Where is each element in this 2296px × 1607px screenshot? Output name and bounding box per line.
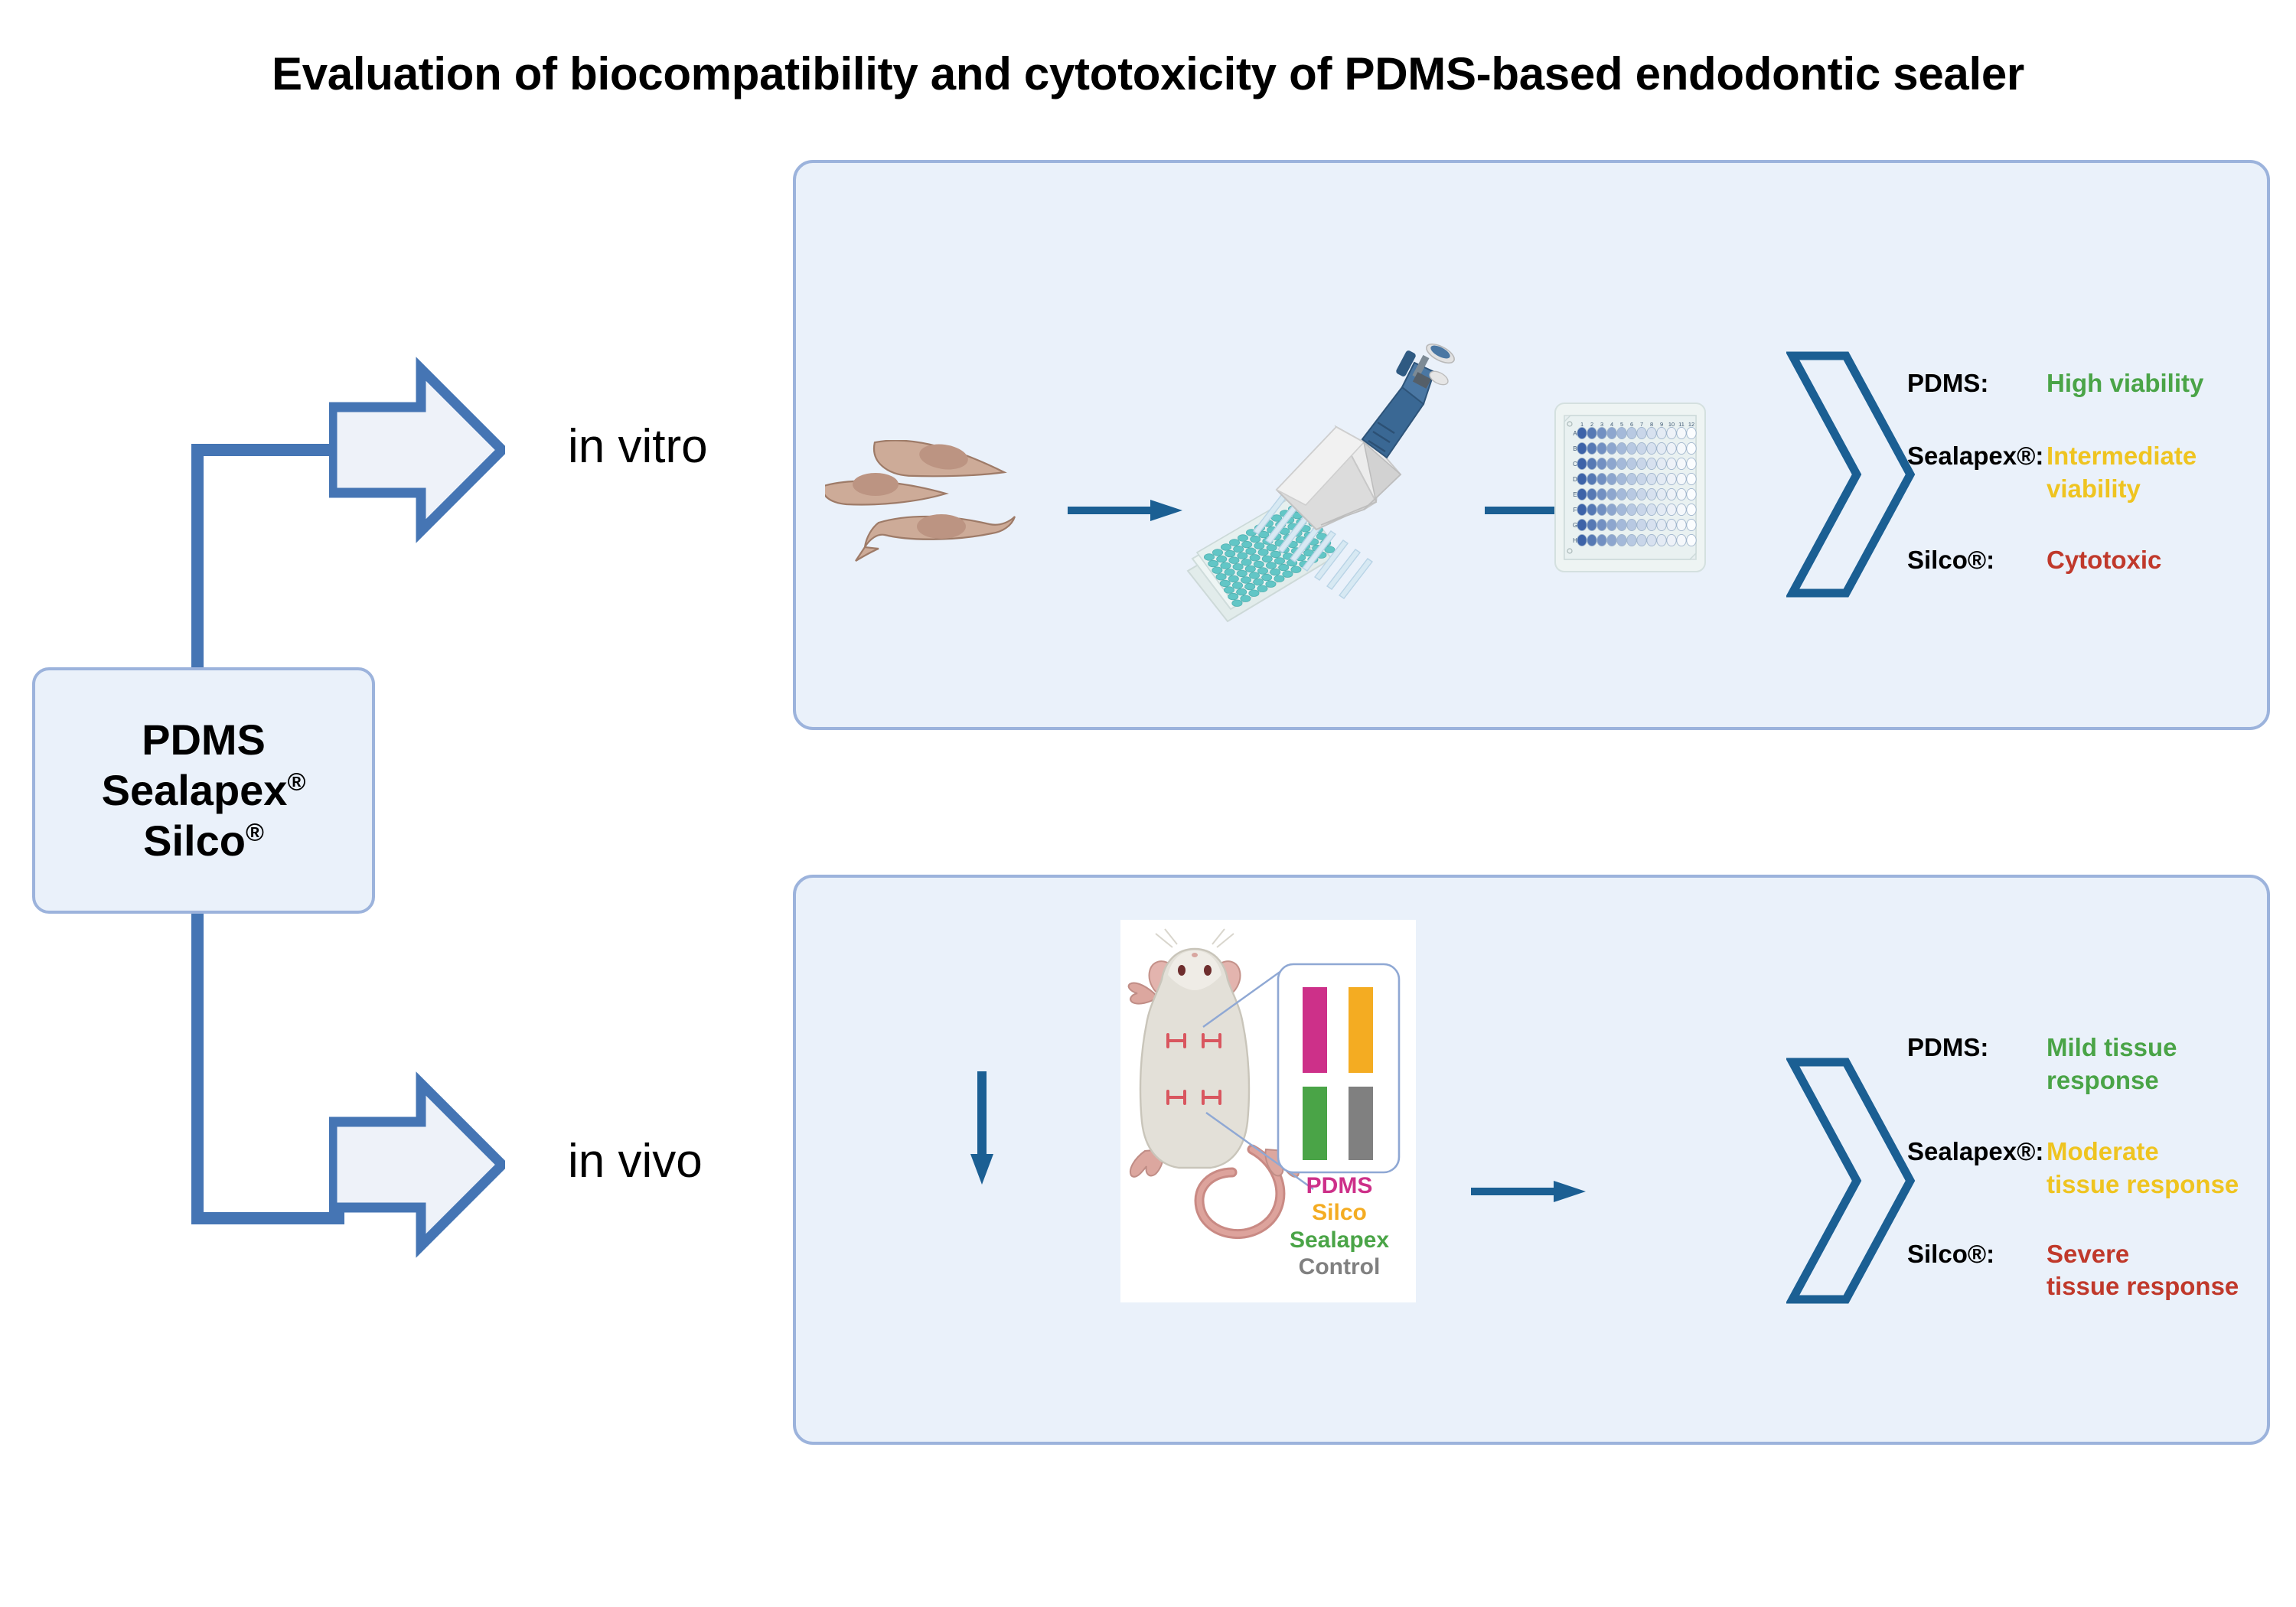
- connector-top-branch: [191, 444, 344, 456]
- multichannel-pipette-illustration: [1171, 329, 1492, 635]
- well: [1637, 458, 1646, 469]
- material-pdms: PDMS: [142, 715, 266, 765]
- svg-text:1: 1: [1580, 421, 1583, 428]
- materials-box: PDMS Sealapex® Silco®: [32, 667, 375, 914]
- well: [1607, 427, 1616, 438]
- chevron-results-in-vivo: [1786, 1054, 1916, 1307]
- legend-item-sealapex: Sealapex: [1270, 1227, 1408, 1253]
- svg-text:11: 11: [1678, 421, 1684, 428]
- svg-text:12: 12: [1688, 421, 1694, 428]
- result-value: Severe tissue response: [2047, 1238, 2239, 1304]
- well: [1617, 427, 1626, 438]
- svg-text:C: C: [1573, 461, 1577, 468]
- results-list-in-vitro: PDMS: High viability Sealapex®: Intermed…: [1907, 367, 2203, 608]
- well: [1657, 534, 1666, 546]
- well: [1637, 473, 1646, 484]
- svg-text:2: 2: [1590, 421, 1593, 428]
- well: [1607, 473, 1616, 484]
- well: [1587, 442, 1596, 454]
- registered-mark-icon: ®: [246, 818, 264, 846]
- well: [1657, 442, 1666, 454]
- legend-item-pdms: PDMS: [1270, 1172, 1408, 1199]
- svg-text:B: B: [1573, 445, 1577, 452]
- page-title: Evaluation of biocompatibility and cytot…: [0, 47, 2296, 100]
- connector-bottom-branch: [191, 1212, 344, 1224]
- well: [1627, 488, 1636, 500]
- well: [1597, 458, 1606, 469]
- well: [1667, 442, 1676, 454]
- well: [1647, 504, 1656, 515]
- svg-text:8: 8: [1650, 421, 1653, 428]
- well: [1647, 442, 1656, 454]
- well: [1607, 488, 1616, 500]
- implant-legend: PDMS Silco Sealapex Control: [1270, 1172, 1408, 1281]
- well: [1587, 458, 1596, 469]
- well: [1617, 458, 1626, 469]
- legend-item-control: Control: [1270, 1253, 1408, 1280]
- well: [1617, 442, 1626, 454]
- well: [1627, 458, 1636, 469]
- well: [1687, 442, 1696, 454]
- result-material: Silco®:: [1907, 544, 2047, 577]
- svg-text:9: 9: [1660, 421, 1663, 428]
- svg-text:G: G: [1573, 522, 1577, 529]
- legend-item-silco: Silco: [1270, 1199, 1408, 1226]
- result-material: Sealapex®:: [1907, 440, 2047, 506]
- well: [1587, 504, 1596, 515]
- well: [1657, 427, 1666, 438]
- result-row: PDMS: Mild tissue response: [1907, 1032, 2239, 1097]
- result-row: Silco®: Cytotoxic: [1907, 544, 2203, 577]
- flow-arrow-right: [1068, 497, 1184, 523]
- well: [1647, 473, 1656, 484]
- well: [1667, 427, 1676, 438]
- well: [1587, 473, 1596, 484]
- svg-text:D: D: [1573, 476, 1577, 483]
- well: [1677, 442, 1686, 454]
- well: [1627, 473, 1636, 484]
- svg-text:H: H: [1573, 537, 1577, 544]
- svg-text:5: 5: [1620, 421, 1623, 428]
- svg-text:7: 7: [1640, 421, 1643, 428]
- result-value: High viability: [2047, 367, 2203, 400]
- well: [1677, 488, 1686, 500]
- svg-text:E: E: [1573, 491, 1577, 498]
- chevron-results-in-vitro: [1786, 348, 1916, 601]
- fibroblast-cells-illustration: [825, 440, 1078, 616]
- well: [1597, 504, 1606, 515]
- well: [1667, 488, 1676, 500]
- well: [1627, 534, 1636, 546]
- branch-arrow-in-vivo: [329, 1071, 505, 1258]
- well: [1617, 519, 1626, 530]
- well: [1677, 534, 1686, 546]
- well: [1637, 519, 1646, 530]
- branch-label-in-vitro: in vitro: [568, 419, 708, 474]
- svg-text:4: 4: [1610, 421, 1613, 428]
- well: [1677, 473, 1686, 484]
- well: [1577, 473, 1587, 484]
- well: [1637, 534, 1646, 546]
- well: [1597, 442, 1606, 454]
- well: [1647, 458, 1656, 469]
- well: [1637, 504, 1646, 515]
- well: [1657, 488, 1666, 500]
- well: [1647, 427, 1656, 438]
- well: [1577, 427, 1587, 438]
- material-silco: Silco®: [143, 816, 264, 866]
- result-material: PDMS:: [1907, 1032, 2047, 1097]
- well: [1637, 427, 1646, 438]
- well: [1637, 488, 1646, 500]
- well: [1597, 519, 1606, 530]
- well: [1577, 442, 1587, 454]
- well: [1617, 534, 1626, 546]
- well: [1607, 504, 1616, 515]
- svg-text:10: 10: [1668, 421, 1675, 428]
- well: [1687, 519, 1696, 530]
- well: [1577, 519, 1587, 530]
- well: [1647, 519, 1656, 530]
- result-row: PDMS: High viability: [1907, 367, 2203, 400]
- diagram-canvas: Evaluation of biocompatibility and cytot…: [0, 0, 2296, 1607]
- well: [1657, 504, 1666, 515]
- result-material: PDMS:: [1907, 367, 2047, 400]
- well: [1607, 458, 1616, 469]
- rat-implant-illustration-card: PDMS Silco Sealapex Control: [1120, 920, 1416, 1302]
- result-row: Sealapex®: Moderate tissue response: [1907, 1136, 2239, 1201]
- well: [1577, 504, 1587, 515]
- 96-well-plate-illustration: 1234 5678 9101112 ABCD EFGH: [1554, 400, 1707, 575]
- result-value: Intermediate viability: [2047, 440, 2197, 506]
- well: [1607, 442, 1616, 454]
- well: [1687, 427, 1696, 438]
- well: [1677, 458, 1686, 469]
- well: [1577, 458, 1587, 469]
- well: [1617, 488, 1626, 500]
- well: [1607, 534, 1616, 546]
- well: [1647, 534, 1656, 546]
- well: [1617, 504, 1626, 515]
- well: [1667, 458, 1676, 469]
- well: [1677, 519, 1686, 530]
- well: [1597, 488, 1606, 500]
- well: [1657, 473, 1666, 484]
- registered-mark-icon: ®: [287, 768, 305, 795]
- well: [1667, 473, 1676, 484]
- well: [1647, 488, 1656, 500]
- well: [1687, 458, 1696, 469]
- result-value: Mild tissue response: [2047, 1032, 2177, 1097]
- well: [1657, 519, 1666, 530]
- result-value: Cytotoxic: [2047, 544, 2161, 577]
- flow-arrow-down: [969, 1071, 995, 1186]
- well: [1677, 427, 1686, 438]
- well: [1597, 534, 1606, 546]
- svg-text:F: F: [1574, 507, 1577, 513]
- svg-text:3: 3: [1600, 421, 1603, 428]
- well: [1667, 519, 1676, 530]
- svg-text:6: 6: [1630, 421, 1633, 428]
- well: [1617, 473, 1626, 484]
- well: [1607, 519, 1616, 530]
- material-sealapex: Sealapex®: [102, 765, 306, 816]
- well: [1667, 534, 1676, 546]
- well: [1587, 534, 1596, 546]
- result-row: Silco®: Severe tissue response: [1907, 1238, 2239, 1304]
- well: [1587, 427, 1596, 438]
- branch-label-in-vivo: in vivo: [568, 1134, 703, 1188]
- well: [1687, 473, 1696, 484]
- well: [1687, 488, 1696, 500]
- well: [1657, 458, 1666, 469]
- well: [1637, 442, 1646, 454]
- result-value: Moderate tissue response: [2047, 1136, 2239, 1201]
- well: [1687, 504, 1696, 515]
- results-list-in-vivo: PDMS: Mild tissue response Sealapex®: Mo…: [1907, 1032, 2239, 1334]
- well: [1627, 427, 1636, 438]
- well: [1577, 534, 1587, 546]
- branch-arrow-in-vitro: [329, 357, 505, 543]
- well: [1587, 519, 1596, 530]
- well: [1597, 473, 1606, 484]
- well: [1677, 504, 1686, 515]
- result-material: Silco®:: [1907, 1238, 2047, 1304]
- result-row: Sealapex®: Intermediate viability: [1907, 440, 2203, 506]
- well: [1627, 504, 1636, 515]
- well: [1627, 442, 1636, 454]
- well: [1597, 427, 1606, 438]
- result-material: Sealapex®:: [1907, 1136, 2047, 1201]
- well: [1667, 504, 1676, 515]
- well: [1577, 488, 1587, 500]
- well: [1687, 534, 1696, 546]
- flow-arrow-right: [1471, 1178, 1587, 1204]
- well: [1587, 488, 1596, 500]
- well: [1627, 519, 1636, 530]
